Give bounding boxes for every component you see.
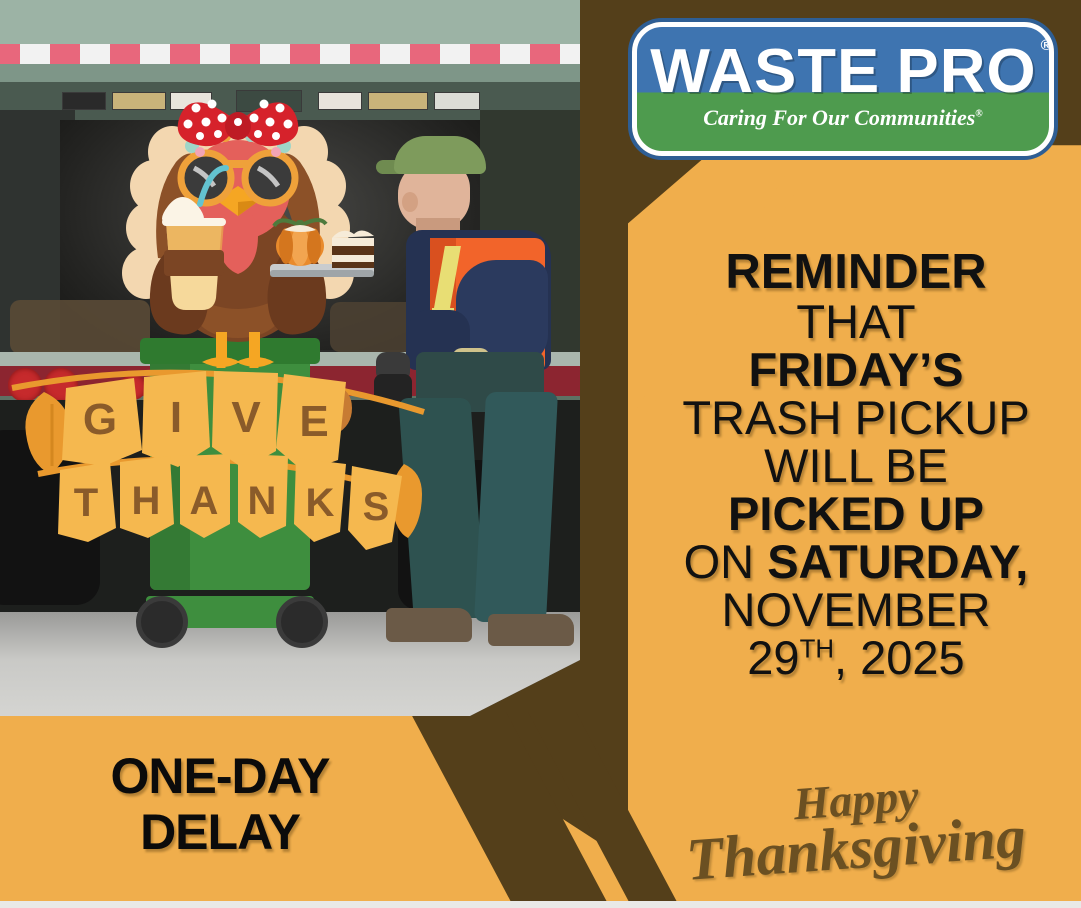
message-ordinal-suffix: TH: [800, 635, 834, 663]
message-year: , 2025: [834, 631, 965, 684]
message-line-trash-pickup: TRASH PICKUP: [640, 394, 1072, 442]
banner-flag: A: [180, 454, 230, 538]
logo-tagline: Caring For Our Communities®: [703, 105, 983, 131]
message-line-reminder: REMINDER: [640, 248, 1072, 298]
svg-text:H: H: [132, 479, 161, 523]
one-day-delay-callout: ONE-DAY DELAY: [40, 748, 400, 860]
message-line-november: NOVEMBER: [640, 586, 1072, 634]
message-line-that: THAT: [640, 298, 1072, 346]
worker-boot: [488, 614, 574, 646]
svg-text:I: I: [170, 393, 182, 442]
logo-word-waste: WASTE: [650, 37, 880, 106]
banner-row-thanks: T H A N K: [58, 454, 402, 550]
thanksgiving-service-notice-poster: G I V E: [0, 0, 1081, 908]
svg-text:N: N: [248, 479, 277, 523]
banner-flag: T: [58, 462, 116, 542]
worker-cap: [394, 136, 486, 174]
svg-text:K: K: [306, 481, 335, 525]
svg-text:T: T: [74, 481, 98, 525]
cartoon-turkey-illustration: [88, 78, 388, 388]
svg-text:V: V: [231, 393, 261, 442]
message-day-number: 29: [747, 631, 799, 684]
registered-trademark-icon-small: ®: [975, 109, 982, 120]
message-on-word: ON: [684, 535, 768, 588]
reminder-message: REMINDER THAT FRIDAY’S TRASH PICKUP WILL…: [640, 248, 1072, 681]
worker-boot: [386, 608, 472, 642]
svg-text:G: G: [83, 395, 117, 444]
banner-flag: H: [120, 456, 174, 538]
garbage-truck-photo: G I V E: [0, 0, 580, 716]
message-line-fridays: FRIDAY’S: [640, 346, 1072, 394]
turkey-polka-dot-bow: [178, 100, 299, 147]
roll-cart-wheel: [136, 596, 188, 648]
svg-text:A: A: [190, 479, 219, 523]
delay-line-one-day: ONE-DAY: [40, 748, 400, 804]
roll-cart-wheel: [276, 596, 328, 648]
banner-flag: G: [62, 378, 142, 466]
banner-flag: K: [294, 458, 346, 542]
worker-ear: [402, 192, 418, 212]
truck-hopper-top: [0, 0, 580, 48]
svg-text:E: E: [299, 397, 328, 446]
worker-leg-front: [474, 392, 558, 622]
message-saturday-word: SATURDAY,: [767, 535, 1028, 588]
waste-pro-logo[interactable]: WASTEPRO® Caring For Our Communities®: [632, 22, 1054, 156]
logo-wordmark: WASTEPRO®: [650, 43, 1036, 102]
bottom-edge-strip: [0, 901, 1081, 908]
message-line-on-saturday: ON SATURDAY,: [640, 538, 1072, 586]
message-line-date: 29TH, 2025: [640, 634, 1072, 682]
happy-thanksgiving-greeting: Happy Thanksgiving: [640, 780, 1072, 875]
reflective-tape: [0, 44, 580, 64]
svg-text:S: S: [363, 485, 390, 529]
registered-trademark-icon: ®: [1040, 39, 1052, 53]
logo-word-pro: PRO: [896, 37, 1036, 106]
logo-tagline-text: Caring For Our Communities: [703, 105, 975, 130]
message-line-picked-up: PICKED UP: [640, 490, 1072, 538]
cake-slice: [332, 230, 374, 268]
banner-flag: I: [142, 371, 210, 467]
give-thanks-banner: G I V E: [8, 352, 428, 557]
banner-flag: N: [238, 454, 288, 538]
delay-line-delay: DELAY: [40, 804, 400, 860]
banner-leaf-oak-left: [25, 392, 70, 474]
banner-flag: S: [348, 466, 402, 550]
truck-warning-label: [434, 92, 480, 110]
message-line-will-be: WILL BE: [640, 442, 1072, 490]
